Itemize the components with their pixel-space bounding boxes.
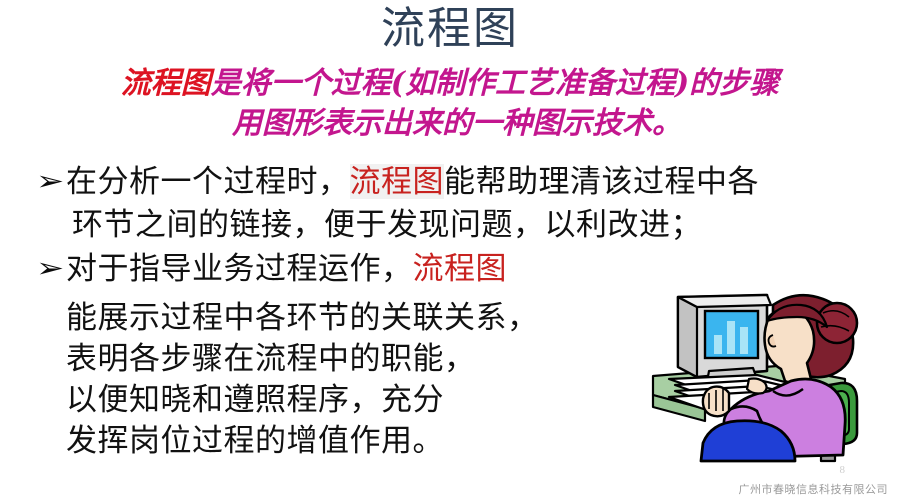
continuation-line-3: 以便知晓和遵照程序，充分 [66, 379, 666, 420]
continuation-text-block: 能展示过程中各环节的关联关系， 表明各步骤在流程中的职能， 以便知晓和遵照程序，… [66, 297, 666, 461]
subtitle-block: 流程图是将一个过程(如制作工艺准备过程)的步骤 用图形表示出来的一种图示技术。 [0, 64, 900, 144]
bullet-item-1: ➢在分析一个过程时，流程图能帮助理清该过程中各环节之间的链接，便于发现问题，以利… [36, 160, 866, 246]
page-number: 8 [840, 464, 846, 476]
continuation-line-2: 表明各步骤在流程中的职能， [66, 338, 666, 379]
bullet-1-text: 在分析一个过程时，流程图能帮助理清该过程中各环节之间的链接，便于发现问题，以利改… [66, 160, 846, 246]
subtitle-line-2: 用图形表示出来的一种图示技术。 [0, 104, 900, 144]
bullet-1-line1-a: 在分析一个过程时， [66, 164, 350, 199]
bullet-1-line1-b: 能帮助理清该过程中各 [444, 164, 759, 199]
continuation-line-1: 能展示过程中各环节的关联关系， [66, 297, 666, 338]
page-title: 流程图 [0, 2, 900, 56]
woman-at-computer-illustration [645, 283, 900, 463]
subtitle-line-1: 流程图是将一个过程(如制作工艺准备过程)的步骤 [121, 66, 779, 101]
subtitle-line-1-rest: 是将一个过程(如制作工艺准备过程)的步骤 [211, 66, 779, 101]
bullet-2-line1-a: 对于指导业务过程运作， [66, 251, 413, 286]
subtitle-highlight-term: 流程图 [121, 66, 211, 101]
bullet-1-highlight-term: 流程图 [350, 164, 445, 199]
footer-credit: 广州市春晓信息科技有限公司 [739, 481, 889, 497]
bullet-2-highlight-term: 流程图 [413, 251, 508, 286]
bullet-1-line2: 环节之间的链接，便于发现问题，以利改进； [66, 203, 846, 246]
slide-canvas: 流程图 流程图是将一个过程(如制作工艺准备过程)的步骤 用图形表示出来的一种图示… [0, 0, 900, 500]
continuation-line-4: 发挥岗位过程的增值作用。 [66, 420, 666, 461]
arrow-bullet-icon: ➢ [36, 247, 74, 290]
arrow-bullet-icon: ➢ [36, 160, 74, 203]
